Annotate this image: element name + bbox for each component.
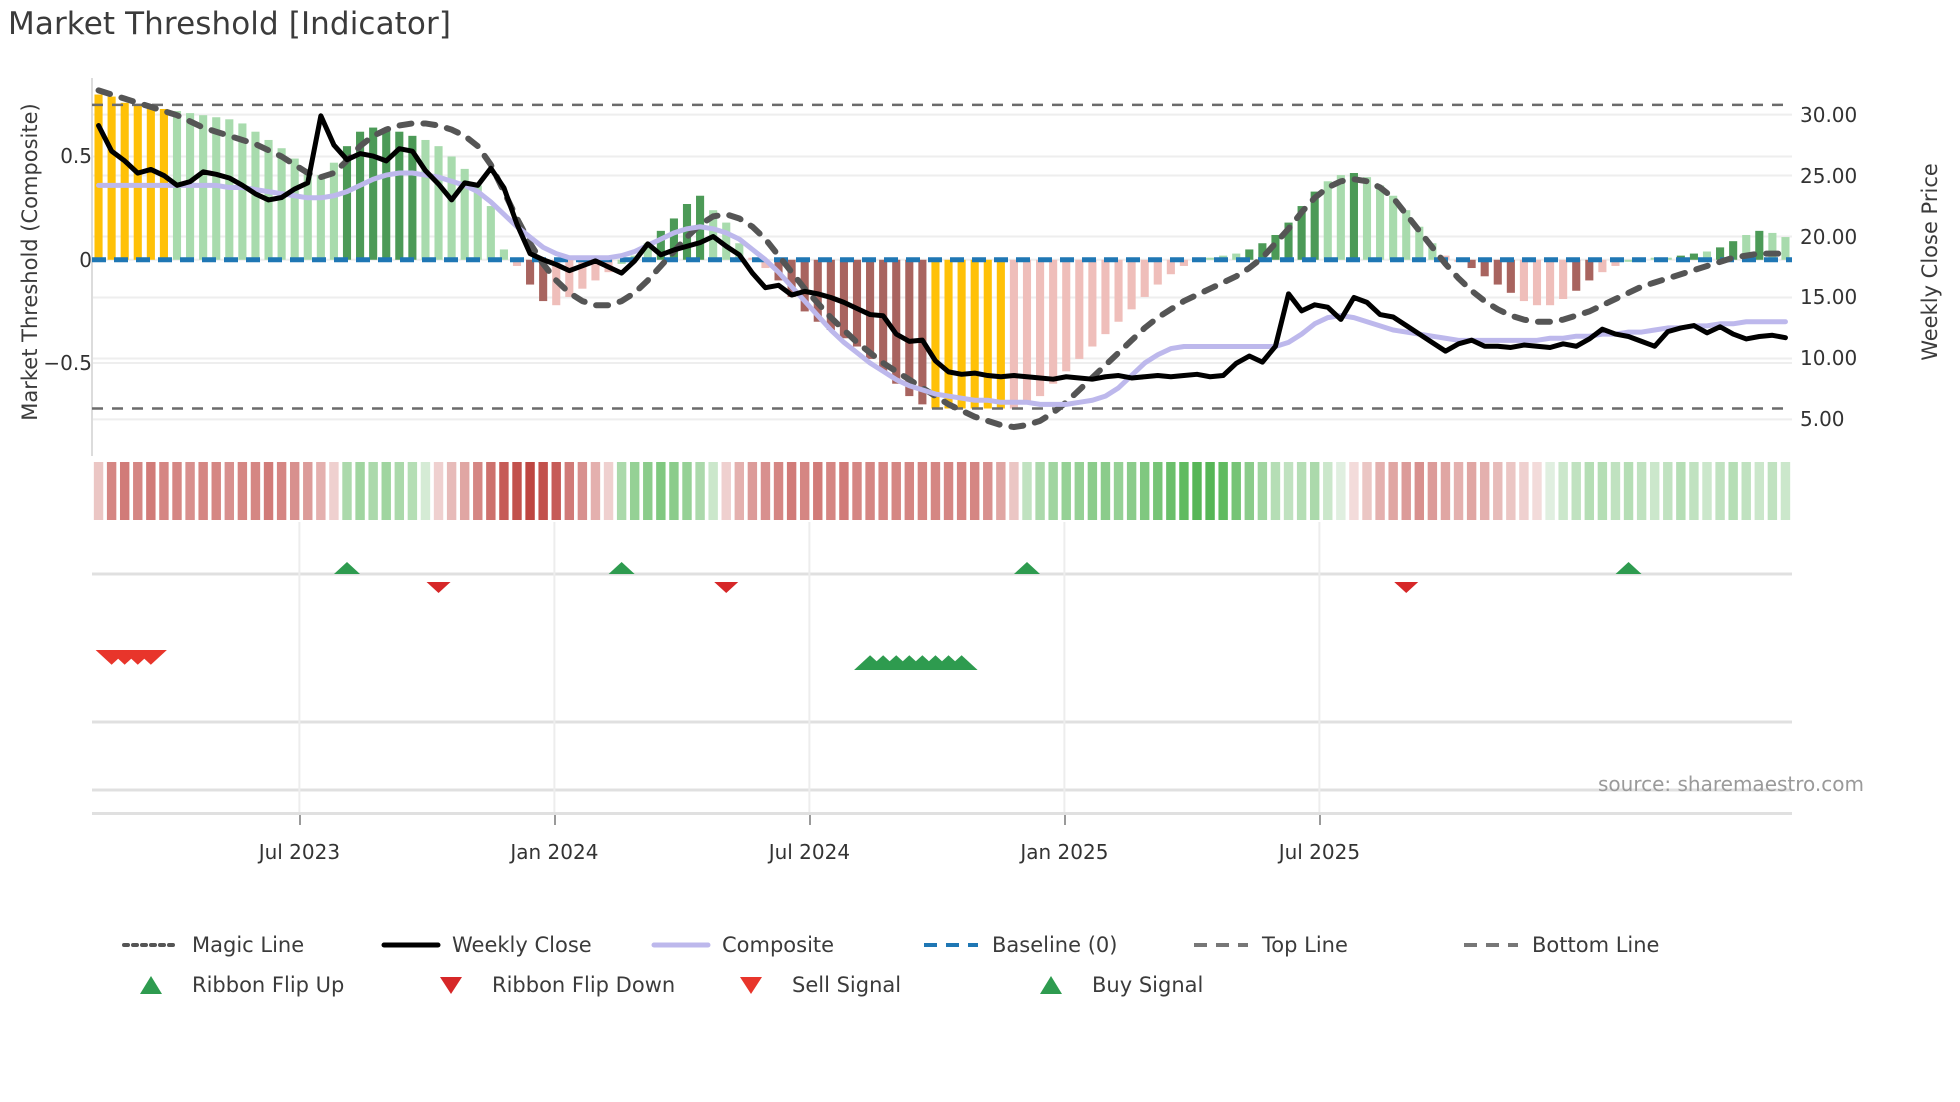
ribbon-cell — [1467, 462, 1476, 520]
ribbon-flip-down-marker — [1394, 582, 1418, 593]
ribbon-cell — [1519, 462, 1528, 520]
threshold-bar — [1206, 258, 1214, 260]
threshold-bar — [1781, 237, 1789, 260]
ribbon-cell — [1558, 462, 1567, 520]
ribbon-cell — [761, 462, 770, 520]
threshold-bar — [317, 175, 325, 260]
source-attribution: source: sharemaestro.com — [1598, 772, 1864, 796]
ribbon-cell — [1075, 462, 1084, 520]
ribbon-cell — [735, 462, 744, 520]
legend-item[interactable]: Weekly Close — [380, 925, 650, 965]
y-axis-left-label: Market Threshold (Composite) — [18, 32, 42, 492]
page-title: Market Threshold [Indicator] — [8, 6, 451, 42]
ribbon-cell — [748, 462, 757, 520]
threshold-bar — [121, 103, 129, 260]
ribbon-cell — [1715, 462, 1724, 520]
ribbon-cell — [1388, 462, 1397, 520]
threshold-bar — [1324, 181, 1332, 259]
legend-item[interactable]: Ribbon Flip Down — [420, 965, 720, 1005]
threshold-bar — [382, 130, 390, 260]
ribbon-cell — [1114, 462, 1123, 520]
ribbon-cell — [1454, 462, 1463, 520]
threshold-bar — [291, 159, 299, 260]
ribbon-flip-up-marker — [1616, 562, 1642, 574]
y-tick-right: 5.00 — [1800, 407, 1845, 431]
dashed-line-icon — [920, 932, 982, 958]
ribbon-flip-up-marker — [334, 562, 360, 574]
ribbon-cell — [303, 462, 312, 520]
ribbon-cell — [970, 462, 979, 520]
ribbon-cell — [892, 462, 901, 520]
threshold-bar — [487, 206, 495, 260]
threshold-bar — [1507, 260, 1515, 293]
threshold-bar — [1010, 260, 1018, 409]
dashed-line-icon — [1190, 932, 1252, 958]
composite-line — [99, 173, 1786, 404]
ribbon-cell — [1650, 462, 1659, 520]
threshold-bar — [1520, 260, 1528, 301]
ribbon-cell — [957, 462, 966, 520]
ribbon-cell — [473, 462, 482, 520]
ribbon-cell — [604, 462, 613, 520]
ribbon-cell — [264, 462, 273, 520]
x-tick-mark — [554, 815, 556, 825]
threshold-bar — [1350, 173, 1358, 260]
threshold-bar — [134, 105, 142, 260]
ribbon-cell — [1009, 462, 1018, 520]
x-axis-rule — [92, 812, 1792, 815]
threshold-bar — [434, 146, 442, 260]
legend-label: Magic Line — [192, 933, 304, 957]
ribbon-cell — [1572, 462, 1581, 520]
x-tick: Jul 2023 — [259, 840, 340, 864]
threshold-bar — [1154, 260, 1162, 285]
ribbon-cell — [1728, 462, 1737, 520]
ribbon-flip-down-marker — [714, 582, 738, 593]
ribbon-flip-down-marker — [427, 582, 451, 593]
ribbon-cell — [1258, 462, 1267, 520]
ribbon-cell — [931, 462, 940, 520]
triangle-down-icon — [420, 972, 482, 998]
ribbon-cell — [1637, 462, 1646, 520]
ribbon-cell — [1585, 462, 1594, 520]
threshold-bar — [1572, 260, 1580, 291]
ribbon-cell — [918, 462, 927, 520]
threshold-bar — [997, 260, 1005, 409]
threshold-bar — [1533, 260, 1541, 305]
ribbon-cell — [1310, 462, 1319, 520]
threshold-bar — [971, 260, 979, 409]
threshold-bar — [369, 128, 377, 260]
ribbon-cell — [290, 462, 299, 520]
ribbon-cell — [251, 462, 260, 520]
main-indicator-plot — [92, 78, 1792, 456]
ribbon-cell — [630, 462, 639, 520]
x-tick-mark — [299, 815, 301, 825]
ribbon-cell — [1062, 462, 1071, 520]
ribbon-cell — [1336, 462, 1345, 520]
ribbon-cell — [486, 462, 495, 520]
threshold-bar — [1337, 175, 1345, 260]
solid-line-icon — [650, 932, 712, 958]
ribbon-cell — [408, 462, 417, 520]
threshold-bar — [421, 140, 429, 260]
y-tick-left: −0.5 — [43, 351, 92, 375]
ribbon-cell — [944, 462, 953, 520]
ribbon-cell — [1245, 462, 1254, 520]
legend-label: Ribbon Flip Down — [492, 973, 675, 997]
chart-legend: Magic LineWeekly CloseCompositeBaseline … — [120, 925, 1880, 1005]
ribbon-cell — [852, 462, 861, 520]
ribbon-cell — [1323, 462, 1332, 520]
ribbon-cell — [159, 462, 168, 520]
legend-label: Weekly Close — [452, 933, 592, 957]
threshold-bar — [1088, 260, 1096, 347]
threshold-bar — [853, 260, 861, 347]
ribbon-cell — [878, 462, 887, 520]
ribbon-cell — [617, 462, 626, 520]
ribbon-cell — [1218, 462, 1227, 520]
ribbon-cell — [1284, 462, 1293, 520]
threshold-bar — [1141, 260, 1149, 297]
ribbon-cell — [1101, 462, 1110, 520]
ribbon-cell — [1179, 462, 1188, 520]
ribbon-cell — [368, 462, 377, 520]
ribbon-cell — [1702, 462, 1711, 520]
ribbon-cell — [198, 462, 207, 520]
ribbon-cell — [1506, 462, 1515, 520]
y-tick-left: 0.5 — [60, 144, 92, 168]
ribbon-flip-up-marker — [609, 562, 635, 574]
ribbon-cell — [1428, 462, 1437, 520]
threshold-bar — [108, 97, 116, 260]
threshold-bar — [1363, 177, 1371, 260]
ribbon-cell — [238, 462, 247, 520]
ribbon-cell — [1480, 462, 1489, 520]
threshold-bar — [1585, 260, 1593, 281]
threshold-bar — [1023, 260, 1031, 405]
ribbon-cell — [656, 462, 665, 520]
legend-item[interactable]: Buy Signal — [1020, 965, 1320, 1005]
threshold-bar — [448, 156, 456, 259]
x-tick: Jul 2024 — [769, 840, 850, 864]
ribbon-cell — [1127, 462, 1136, 520]
y-tick-right: 10.00 — [1800, 346, 1857, 370]
triangle-up-icon — [120, 972, 182, 998]
ribbon-cell — [996, 462, 1005, 520]
threshold-bar — [944, 260, 952, 409]
threshold-bar — [984, 260, 992, 409]
ribbon-cell — [460, 462, 469, 520]
x-tick: Jul 2025 — [1279, 840, 1360, 864]
threshold-bar — [94, 95, 102, 260]
ribbon-cell — [1415, 462, 1424, 520]
ribbon-cell — [565, 462, 574, 520]
ribbon-cell — [382, 462, 391, 520]
ribbon-cell — [1349, 462, 1358, 520]
ribbon-cell — [1781, 462, 1790, 520]
threshold-bar — [1114, 260, 1122, 322]
ribbon-cell — [1153, 462, 1162, 520]
ribbon-cell — [1166, 462, 1175, 520]
threshold-bar — [1494, 260, 1502, 285]
ribbon-cell — [1676, 462, 1685, 520]
threshold-bar — [1101, 260, 1109, 334]
threshold-bar — [892, 260, 900, 384]
ribbon-cell — [1624, 462, 1633, 520]
ribbon-cell — [1545, 462, 1554, 520]
ribbon-cell — [1375, 462, 1384, 520]
triangle-up-icon — [1020, 972, 1082, 998]
legend-item[interactable]: Bottom Line — [1460, 925, 1730, 965]
legend-item[interactable]: Ribbon Flip Up — [120, 965, 420, 1005]
ribbon-cell — [1768, 462, 1777, 520]
x-tick-mark — [1064, 815, 1066, 825]
legend-item[interactable]: Top Line — [1190, 925, 1460, 965]
threshold-bar — [330, 163, 338, 260]
ribbon-cell — [146, 462, 155, 520]
threshold-bar — [1559, 260, 1567, 299]
ribbon-cell — [1532, 462, 1541, 520]
ribbon-cell — [591, 462, 600, 520]
ribbon-cell — [865, 462, 874, 520]
ribbon-cell — [1402, 462, 1411, 520]
dashed-line-icon — [1460, 932, 1522, 958]
ribbon-cell — [225, 462, 234, 520]
ribbon-cell — [212, 462, 221, 520]
ribbon-cell — [787, 462, 796, 520]
trend-ribbon-panel — [92, 462, 1792, 520]
legend-item[interactable]: Composite — [650, 925, 920, 965]
legend-item[interactable]: Baseline (0) — [920, 925, 1190, 965]
ribbon-cell — [1048, 462, 1057, 520]
ribbon-cell — [682, 462, 691, 520]
ribbon-cell — [1192, 462, 1201, 520]
threshold-bar — [278, 148, 286, 260]
legend-item[interactable]: Sell Signal — [720, 965, 1020, 1005]
threshold-bar — [1128, 260, 1136, 310]
solid-line-icon — [380, 932, 442, 958]
ribbon-flip-up-marker — [1014, 562, 1040, 574]
y-tick-right: 15.00 — [1800, 285, 1857, 309]
ribbon-cell — [120, 462, 129, 520]
threshold-bar — [918, 260, 926, 405]
ribbon-cell — [355, 462, 364, 520]
ribbon-cell — [578, 462, 587, 520]
ribbon-cell — [905, 462, 914, 520]
triangle-down-icon — [720, 972, 782, 998]
y-tick-right: 30.00 — [1800, 103, 1857, 127]
ribbon-cell — [1205, 462, 1214, 520]
y-axis-right-label: Weekly Close Price — [1918, 32, 1942, 492]
ribbon-cell — [1611, 462, 1620, 520]
ribbon-cell — [643, 462, 652, 520]
legend-label: Composite — [722, 933, 834, 957]
ribbon-cell — [983, 462, 992, 520]
ribbon-cell — [1035, 462, 1044, 520]
ribbon-cell — [512, 462, 521, 520]
ribbon-cell — [1441, 462, 1450, 520]
x-tick: Jan 2025 — [1020, 840, 1108, 864]
ribbon-cell — [1088, 462, 1097, 520]
ribbon-cell — [1362, 462, 1371, 520]
threshold-bar — [1075, 260, 1083, 359]
ribbon-cell — [316, 462, 325, 520]
ribbon-cell — [1663, 462, 1672, 520]
ribbon-cell — [107, 462, 116, 520]
ribbon-cell — [1022, 462, 1031, 520]
ribbon-cell — [552, 462, 561, 520]
ribbon-cell — [1689, 462, 1698, 520]
legend-label: Ribbon Flip Up — [192, 973, 344, 997]
ribbon-cell — [1493, 462, 1502, 520]
ribbon-cell — [800, 462, 809, 520]
ribbon-cell — [813, 462, 822, 520]
legend-label: Bottom Line — [1532, 933, 1659, 957]
ribbon-cell — [695, 462, 704, 520]
chart-root: Market Threshold [Indicator] Market Thre… — [0, 0, 1960, 1102]
ribbon-cell — [669, 462, 678, 520]
threshold-bar — [931, 260, 939, 409]
threshold-bar — [565, 260, 573, 297]
ribbon-cell — [1140, 462, 1149, 520]
dotted-line-icon — [120, 932, 182, 958]
threshold-bar — [526, 260, 534, 285]
ribbon-cell — [172, 462, 181, 520]
legend-item[interactable]: Magic Line — [120, 925, 380, 965]
legend-label: Baseline (0) — [992, 933, 1117, 957]
threshold-bar — [958, 260, 966, 409]
x-tick: Jan 2024 — [510, 840, 598, 864]
ribbon-cell — [826, 462, 835, 520]
threshold-bar — [212, 117, 220, 260]
ribbon-cell — [774, 462, 783, 520]
ribbon-cell — [329, 462, 338, 520]
ribbon-cell — [133, 462, 142, 520]
ribbon-cell — [499, 462, 508, 520]
ribbon-cell — [1232, 462, 1241, 520]
ribbon-cell — [1297, 462, 1306, 520]
threshold-bar — [1062, 260, 1070, 372]
threshold-bar — [1624, 260, 1632, 262]
ribbon-cell — [395, 462, 404, 520]
ribbon-cell — [708, 462, 717, 520]
threshold-bar — [1546, 260, 1554, 305]
ribbon-cell — [434, 462, 443, 520]
ribbon-cell — [185, 462, 194, 520]
signal-marker-panel — [92, 522, 1792, 812]
legend-label: Top Line — [1262, 933, 1348, 957]
ribbon-cell — [1271, 462, 1280, 520]
threshold-bar — [1690, 254, 1698, 260]
ribbon-cell — [277, 462, 286, 520]
ribbon-cell — [525, 462, 534, 520]
ribbon-cell — [421, 462, 430, 520]
threshold-bar — [1049, 260, 1057, 384]
x-tick-mark — [1319, 815, 1321, 825]
ribbon-cell — [342, 462, 351, 520]
ribbon-cell — [722, 462, 731, 520]
ribbon-cell — [94, 462, 103, 520]
x-tick-mark — [809, 815, 811, 825]
y-tick-left: 0 — [79, 248, 92, 272]
y-tick-right: 25.00 — [1800, 164, 1857, 188]
threshold-bar — [866, 260, 874, 359]
ribbon-cell — [538, 462, 547, 520]
threshold-bar — [1376, 185, 1384, 259]
ribbon-cell — [447, 462, 456, 520]
y-tick-right: 20.00 — [1800, 225, 1857, 249]
ribbon-cell — [1742, 462, 1751, 520]
legend-label: Sell Signal — [792, 973, 901, 997]
legend-label: Buy Signal — [1092, 973, 1203, 997]
ribbon-cell — [839, 462, 848, 520]
ribbon-cell — [1598, 462, 1607, 520]
ribbon-cell — [1755, 462, 1764, 520]
